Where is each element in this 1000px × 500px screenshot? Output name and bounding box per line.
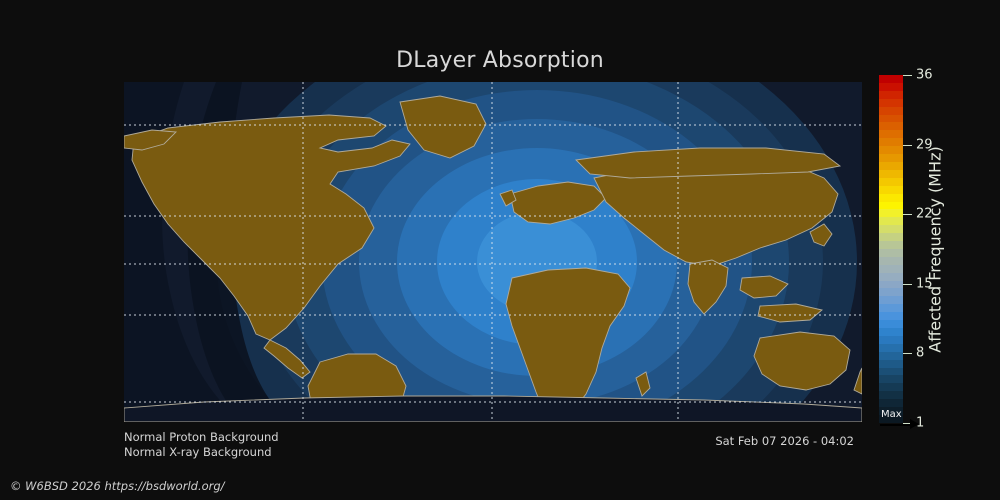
colorbar-swatch-14 — [879, 186, 903, 194]
colorbar-swatch-38 — [879, 375, 903, 383]
colorbar-swatch-4 — [879, 107, 903, 115]
max-marker: Max — [879, 409, 925, 433]
colorbar-axis-label-text: Affected Frequency (MHz) — [926, 146, 945, 352]
colorbar-swatch-18 — [879, 217, 903, 225]
max-marker-arrow-line — [880, 424, 914, 426]
proton-background-note: Normal Proton Background — [124, 430, 279, 444]
colorbar-tick-mark-22 — [903, 214, 912, 215]
colorbar-swatch-31 — [879, 320, 903, 328]
colorbar-swatch-29 — [879, 304, 903, 312]
colorbar-swatch-8 — [879, 138, 903, 146]
colorbar-swatch-5 — [879, 115, 903, 123]
colorbar-swatch-25 — [879, 273, 903, 281]
timestamp: Sat Feb 07 2026 - 04:02 — [715, 434, 854, 448]
copyright-notice: © W6BSD 2026 https://bsdworld.org/ — [10, 479, 225, 493]
colorbar-tick-mark-36 — [903, 75, 912, 76]
colorbar-swatch-1 — [879, 83, 903, 91]
colorbar-swatch-40 — [879, 391, 903, 399]
colorbar-tick-mark-29 — [903, 145, 912, 146]
colorbar-swatch-0 — [879, 75, 903, 83]
xray-background-note: Normal X-ray Background — [124, 445, 272, 459]
colorbar-swatch-23 — [879, 257, 903, 265]
colorbar-swatch-30 — [879, 312, 903, 320]
colorbar: 1815222936 Max — [879, 75, 903, 423]
colorbar-swatch-15 — [879, 194, 903, 202]
max-marker-arrow-head — [910, 419, 919, 429]
colorbar-swatch-7 — [879, 130, 903, 138]
colorbar-swatch-34 — [879, 344, 903, 352]
colorbar-tick-mark-8 — [903, 353, 912, 354]
max-marker-label: Max — [881, 409, 902, 420]
colorbar-swatch-6 — [879, 122, 903, 130]
colorbar-gradient — [879, 75, 903, 423]
colorbar-swatch-12 — [879, 170, 903, 178]
world-map — [124, 82, 862, 422]
colorbar-swatch-11 — [879, 162, 903, 170]
page-title: DLayer Absorption — [0, 48, 1000, 73]
colorbar-swatch-22 — [879, 249, 903, 257]
colorbar-swatch-41 — [879, 399, 903, 407]
colorbar-swatch-28 — [879, 296, 903, 304]
colorbar-swatch-33 — [879, 336, 903, 344]
colorbar-swatch-39 — [879, 383, 903, 391]
colorbar-axis-label: Affected Frequency (MHz) — [921, 75, 949, 423]
colorbar-swatch-32 — [879, 328, 903, 336]
colorbar-swatch-35 — [879, 352, 903, 360]
colorbar-swatch-10 — [879, 154, 903, 162]
map-canvas — [124, 82, 862, 422]
colorbar-swatch-2 — [879, 91, 903, 99]
colorbar-swatch-19 — [879, 225, 903, 233]
colorbar-swatch-16 — [879, 202, 903, 210]
colorbar-swatch-17 — [879, 209, 903, 217]
colorbar-swatch-27 — [879, 288, 903, 296]
colorbar-tick-mark-15 — [903, 284, 912, 285]
colorbar-swatch-24 — [879, 265, 903, 273]
colorbar-swatch-3 — [879, 99, 903, 107]
colorbar-swatch-36 — [879, 360, 903, 368]
colorbar-swatch-26 — [879, 281, 903, 289]
colorbar-swatch-20 — [879, 233, 903, 241]
colorbar-swatch-37 — [879, 368, 903, 376]
dlayer-absorption-plot: DLayer Absorption — [0, 0, 1000, 500]
colorbar-swatch-21 — [879, 241, 903, 249]
colorbar-swatch-13 — [879, 178, 903, 186]
colorbar-swatch-9 — [879, 146, 903, 154]
